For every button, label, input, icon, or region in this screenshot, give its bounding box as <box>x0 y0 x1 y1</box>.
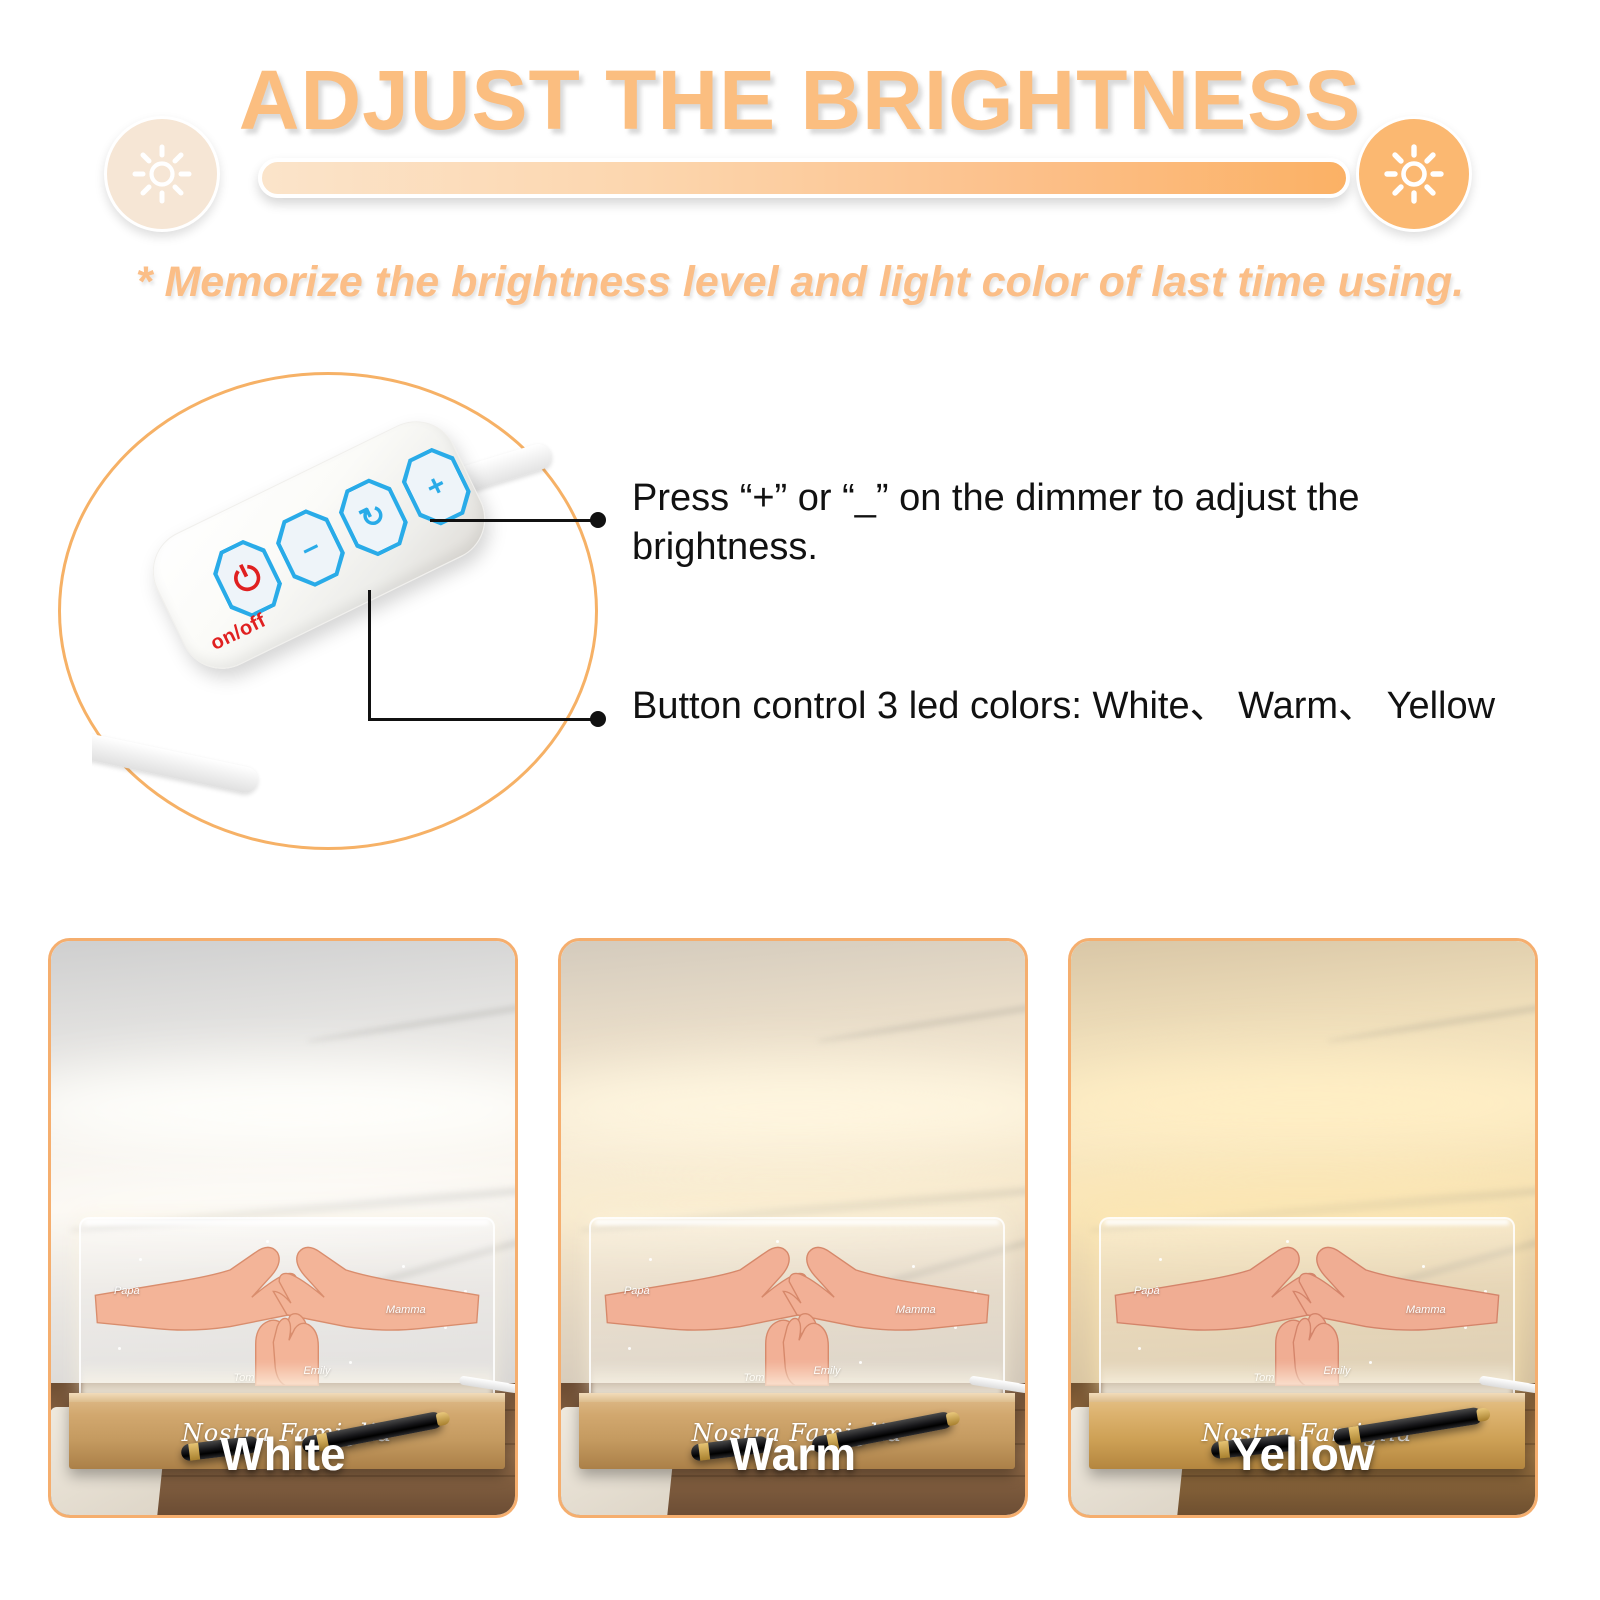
power-icon: ⏻ <box>228 558 267 600</box>
panel-label-warm: Warm <box>561 1427 1025 1481</box>
page-title: ADJUST THE BRIGHTNESS <box>0 52 1600 149</box>
callout-led-colors-text: Button control 3 led colors: White、 Warm… <box>632 682 1512 731</box>
callout-line-colors-vertical <box>368 590 371 720</box>
dimmer-illustration: ⏻ – ↻ + on/off <box>92 400 562 820</box>
name-tag-right: Mamma <box>896 1304 936 1316</box>
light-glow <box>1068 1059 1538 1147</box>
name-tag-left: Papà <box>114 1285 140 1297</box>
callout-dot-colors <box>590 711 606 727</box>
cycle-icon: ↻ <box>336 477 410 558</box>
light-glow <box>558 1063 1028 1151</box>
minus-icon: – <box>274 507 348 588</box>
name-tag-right: Mamma <box>1406 1304 1446 1316</box>
name-tag-left: Papà <box>624 1285 650 1297</box>
plus-icon: + <box>399 446 473 527</box>
name-tag-right: Mamma <box>386 1304 426 1316</box>
sun-dim-icon <box>104 116 220 232</box>
power-cord-lower <box>92 730 261 795</box>
panel-label-yellow: Yellow <box>1071 1427 1535 1481</box>
on-off-label: on/off <box>207 609 270 655</box>
callout-brightness-text: Press “+” or “_” on the dimmer to adjust… <box>632 474 1512 571</box>
panel-label-white: White <box>51 1427 515 1481</box>
acrylic-plaque: Papà Mamma Tom Emily <box>1099 1217 1515 1399</box>
product-panel-white[interactable]: Papà Mamma Tom Emily Nostra Famiglia <box>48 938 518 1518</box>
product-panel-warm[interactable]: Papà Mamma Tom Emily Nostra Famiglia <box>558 938 1028 1518</box>
memorize-note: * Memorize the brightness level and ligh… <box>0 258 1600 307</box>
callout-line-colors-horizontal <box>368 718 600 721</box>
minus-button[interactable]: – <box>268 502 353 594</box>
sun-bright-icon <box>1356 116 1472 232</box>
cycle-button[interactable]: ↻ <box>331 471 416 563</box>
callout-line-brightness <box>430 519 600 522</box>
inline-dimmer-switch: ⏻ – ↻ + on/off <box>139 407 500 683</box>
acrylic-plaque: Papà Mamma Tom Emily <box>589 1217 1005 1399</box>
acrylic-plaque: Papà Mamma Tom Emily <box>79 1217 495 1399</box>
infographic-page: ADJUST THE BRIGHTNESS <box>0 0 1600 1600</box>
brightness-slider[interactable] <box>258 158 1350 198</box>
light-glow <box>48 1063 518 1151</box>
product-panel-yellow[interactable]: Papà Mamma Tom Emily Nostra Famiglia <box>1068 938 1538 1518</box>
name-tag-left: Papà <box>1134 1285 1160 1297</box>
callout-dot-brightness <box>590 512 606 528</box>
power-button[interactable]: ⏻ <box>205 533 290 625</box>
product-panel-row: Papà Mamma Tom Emily Nostra Famiglia <box>0 938 1600 1538</box>
